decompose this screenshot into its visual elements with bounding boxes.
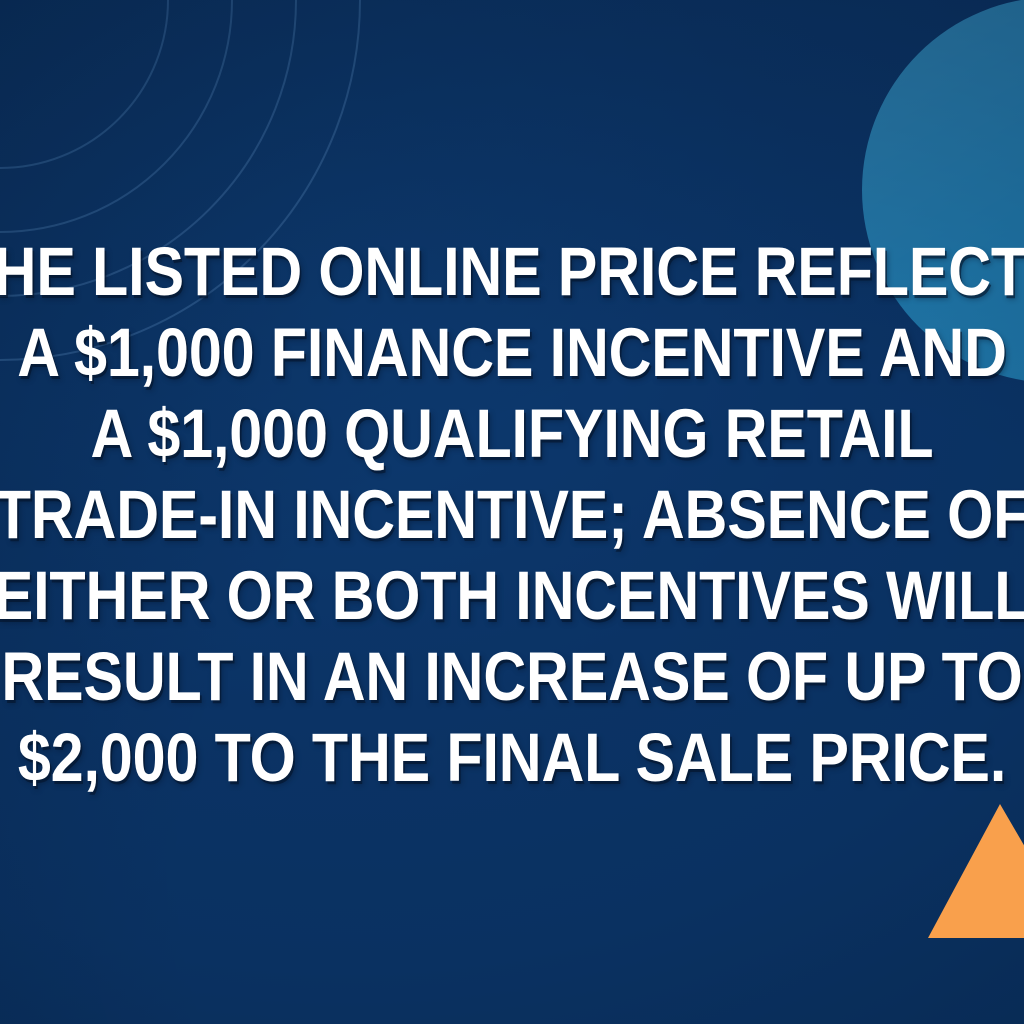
headline-line-4: TRADE-IN INCENTIVE; ABSENCE OF <box>0 474 1024 555</box>
headline-line-5: EITHER OR BOTH INCENTIVES WILL <box>0 555 1024 636</box>
accent-triangle-decoration <box>928 804 1024 938</box>
headline-line-7: $2,000 TO THE FINAL SALE PRICE. <box>0 717 1024 798</box>
headline-line-1: THE LISTED ONLINE PRICE REFLECTS <box>0 231 1024 312</box>
headline-line-2: A $1,000 FINANCE INCENTIVE AND <box>0 312 1024 393</box>
headline-block: THE LISTED ONLINE PRICE REFLECTS A $1,00… <box>0 231 1024 798</box>
headline-line-3: A $1,000 QUALIFYING RETAIL <box>0 393 1024 474</box>
triangle-shape <box>928 804 1024 938</box>
promo-disclaimer-card: THE LISTED ONLINE PRICE REFLECTS A $1,00… <box>0 0 1024 1024</box>
headline-line-6: RESULT IN AN INCREASE OF UP TO <box>0 636 1024 717</box>
